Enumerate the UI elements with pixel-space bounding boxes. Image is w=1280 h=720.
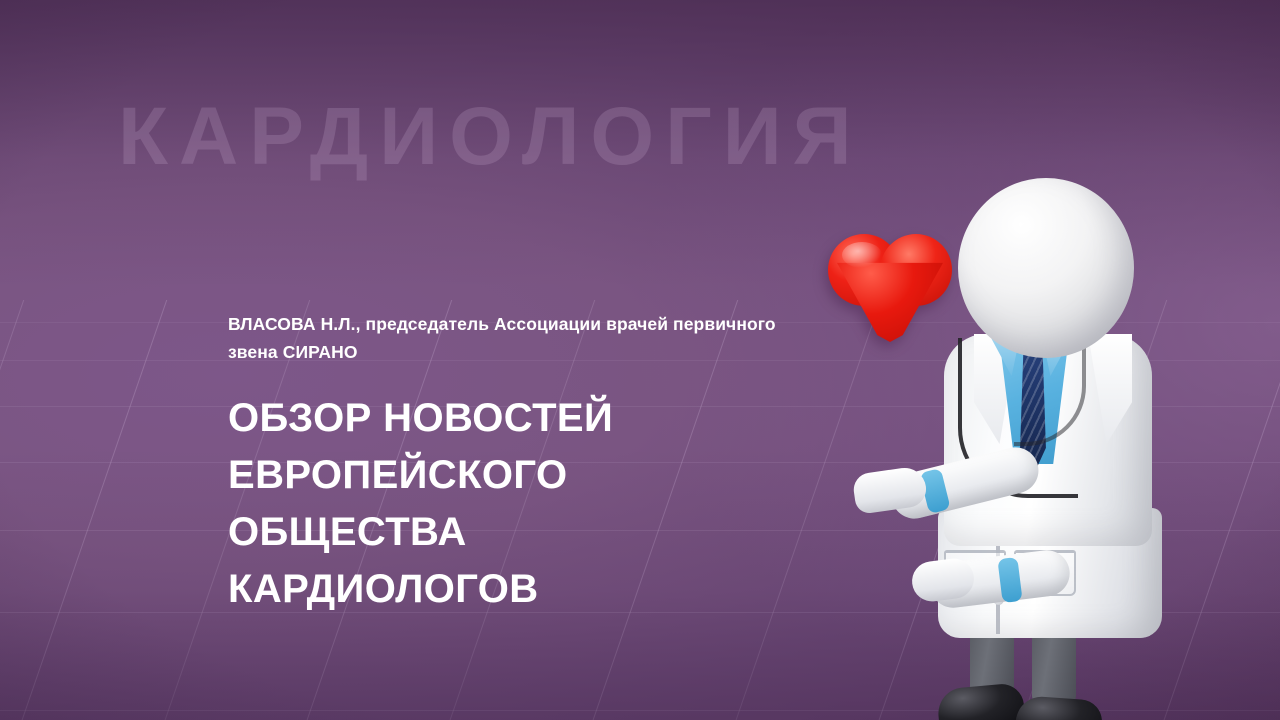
watermark-title: КАРДИОЛОГИЯ	[118, 96, 863, 178]
doctor-figure	[818, 178, 1218, 608]
coat-lapel-right	[1088, 334, 1132, 444]
page-title: ОБЗОР НОВОСТЕЙ ЕВРОПЕЙСКОГО ОБЩЕСТВА КАР…	[228, 390, 748, 618]
title-block: ВЛАСОВА Н.Л., председатель Ассоциации вр…	[228, 310, 828, 618]
presentation-slide: КАРДИОЛОГИЯ ВЛАСОВА Н.Л., председатель А…	[0, 0, 1280, 720]
head	[958, 178, 1134, 358]
heart-icon	[828, 228, 954, 346]
heart-highlight	[842, 242, 882, 268]
speaker-subtitle: ВЛАСОВА Н.Л., председатель Ассоциации вр…	[228, 310, 803, 366]
